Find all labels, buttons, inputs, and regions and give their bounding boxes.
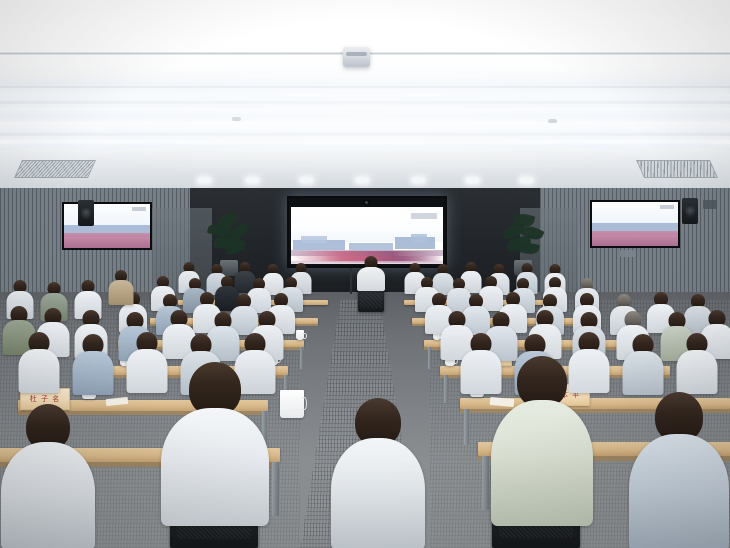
foreground-attendee-center bbox=[330, 398, 426, 548]
ceiling-downlight bbox=[356, 178, 369, 183]
ceiling-light-strip bbox=[0, 108, 730, 113]
ceiling-downlight bbox=[412, 178, 425, 183]
attendee bbox=[676, 333, 718, 393]
attendee bbox=[18, 332, 60, 392]
ceiling-downlight bbox=[246, 178, 259, 183]
ceiling-light-strip bbox=[0, 140, 730, 144]
wall-sign bbox=[703, 200, 717, 209]
smoke-detector-icon bbox=[548, 119, 557, 123]
presenter bbox=[356, 256, 386, 290]
smoke-detector-icon bbox=[232, 117, 241, 121]
right-side-display[interactable] bbox=[590, 200, 680, 248]
attendee bbox=[622, 334, 664, 394]
ceiling-downlight bbox=[466, 178, 479, 183]
foreground-attendee-right bbox=[490, 356, 594, 524]
left-display-content bbox=[64, 204, 150, 248]
ceiling-light-frame bbox=[0, 133, 730, 136]
hvac-grille-icon bbox=[636, 160, 718, 178]
conference-room-photo: 王 杜 子 名 张 本 平 bbox=[0, 0, 730, 548]
foreground-attendee-far-right bbox=[628, 392, 730, 548]
ceiling-light-frame bbox=[0, 101, 730, 104]
foreground-attendee-far-left bbox=[0, 404, 96, 548]
screen-camera-icon bbox=[362, 200, 371, 205]
screen-watermark bbox=[411, 213, 437, 219]
attendee bbox=[108, 270, 134, 304]
mic-stand bbox=[350, 268, 352, 294]
ceiling-downlight bbox=[198, 178, 211, 183]
hvac-grille-icon bbox=[14, 160, 96, 178]
ceiling-seam bbox=[0, 86, 730, 88]
projector-icon bbox=[343, 47, 370, 67]
tea-cup bbox=[296, 330, 304, 340]
ceiling-light-strip bbox=[0, 122, 730, 131]
foreground-attendee-left bbox=[160, 362, 270, 524]
ceiling-downlight bbox=[300, 178, 313, 183]
right-display-label bbox=[620, 250, 636, 257]
right-speaker-icon bbox=[682, 198, 698, 224]
tea-cup bbox=[280, 390, 304, 418]
left-side-display[interactable] bbox=[62, 202, 152, 250]
ceiling-light-strip bbox=[0, 94, 730, 101]
ceiling-downlight bbox=[520, 178, 533, 183]
right-display-content bbox=[592, 202, 678, 246]
attendee bbox=[72, 334, 114, 394]
left-speaker-icon bbox=[78, 200, 94, 226]
